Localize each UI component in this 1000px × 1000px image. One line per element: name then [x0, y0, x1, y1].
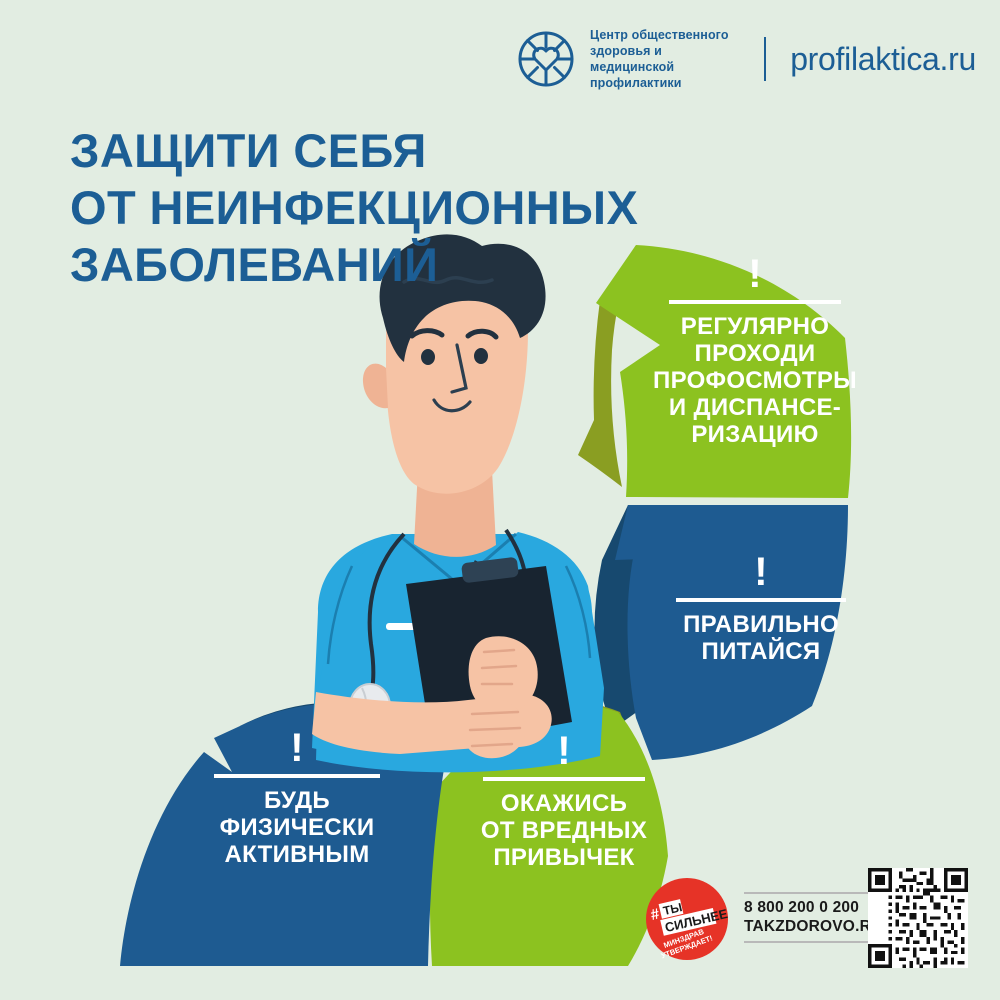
wedge-rule	[483, 777, 645, 781]
wedge-label-nutrition: ! ПРАВИЛЬНО ПИТАЙСЯ	[648, 556, 874, 665]
exclamation-icon: !	[640, 258, 870, 290]
header: Центр общественного здоровья и медицинск…	[516, 28, 976, 90]
wedge-rule	[676, 598, 846, 602]
page-title-line-2: ОТ НЕИНФЕКЦИОННЫХ	[70, 180, 750, 237]
organization-name: Центр общественного здоровья и медицинск…	[590, 27, 744, 91]
doctor-illustration	[312, 234, 604, 772]
doctor-eye-right	[474, 348, 488, 364]
qr-code-icon[interactable]	[868, 868, 968, 968]
exclamation-icon: !	[185, 732, 409, 764]
doctor-eye-left	[421, 349, 435, 365]
hotline-phone[interactable]: 8 800 200 0 200	[744, 899, 862, 917]
exclamation-icon: !	[648, 556, 874, 588]
contact-divider-top	[744, 892, 869, 894]
wedge-label-habits: ! ОКАЖИСЬ ОТ ВРЕДНЫХ ПРИВЫЧЕК	[456, 735, 672, 871]
wheel-heart-emblem-icon	[516, 29, 576, 89]
wedge-label-activity: ! БУДЬ ФИЗИЧЕСКИ АКТИВНЫМ	[185, 732, 409, 868]
contact-divider-bottom	[744, 941, 869, 943]
wedge-label-checkup: ! РЕГУЛЯРНО ПРОХОДИ ПРОФОСМОТРЫ И ДИСПАН…	[640, 258, 870, 449]
page-title-line-1: ЗАЩИТИ СЕБЯ	[70, 123, 750, 180]
poster-canvas: Центр общественного здоровья и медицинск…	[0, 0, 1000, 1000]
wedge-rule	[669, 300, 841, 304]
contact-block: 8 800 200 0 200 TAKZDOROVO.RU	[744, 892, 862, 943]
doctor-ear	[363, 364, 388, 409]
wedge-text: БУДЬ ФИЗИЧЕСКИ АКТИВНЫМ	[185, 787, 409, 868]
header-divider	[764, 37, 766, 81]
ty-silnee-campaign-badge[interactable]: # ТЫ СИЛЬНЕЕ МИНЗДРАВ УТВЕРЖДАЕТ!	[644, 876, 730, 962]
wedge-text: РЕГУЛЯРНО ПРОХОДИ ПРОФОСМОТРЫ И ДИСПАНСЕ…	[640, 313, 870, 449]
website-link[interactable]: profilaktica.ru	[790, 41, 976, 78]
wedge-rule	[214, 774, 380, 778]
footer: # ТЫ СИЛЬНЕЕ МИНЗДРАВ УТВЕРЖДАЕТ! 8 800 …	[640, 866, 980, 970]
hotline-site[interactable]: TAKZDOROVO.RU	[744, 918, 862, 936]
exclamation-icon: !	[456, 735, 672, 767]
wedge-text: ОКАЖИСЬ ОТ ВРЕДНЫХ ПРИВЫЧЕК	[456, 790, 672, 871]
wedge-text: ПРАВИЛЬНО ПИТАЙСЯ	[648, 611, 874, 665]
